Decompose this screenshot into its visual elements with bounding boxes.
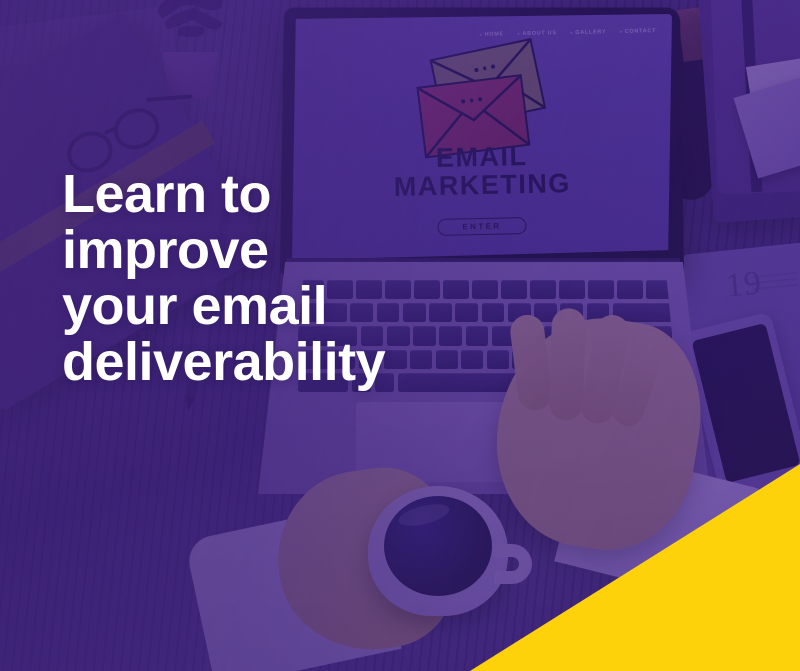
headline: Learn to improve your email deliverabili… <box>62 166 502 391</box>
headline-line-4: deliverability <box>62 334 502 390</box>
email-deliverability-banner: 19 HOME ABOUT US GALLERY CONTACT <box>0 0 800 671</box>
headline-line-3: your email <box>62 278 502 334</box>
headline-line-1: Learn to <box>62 166 502 222</box>
headline-line-2: improve <box>62 222 502 278</box>
